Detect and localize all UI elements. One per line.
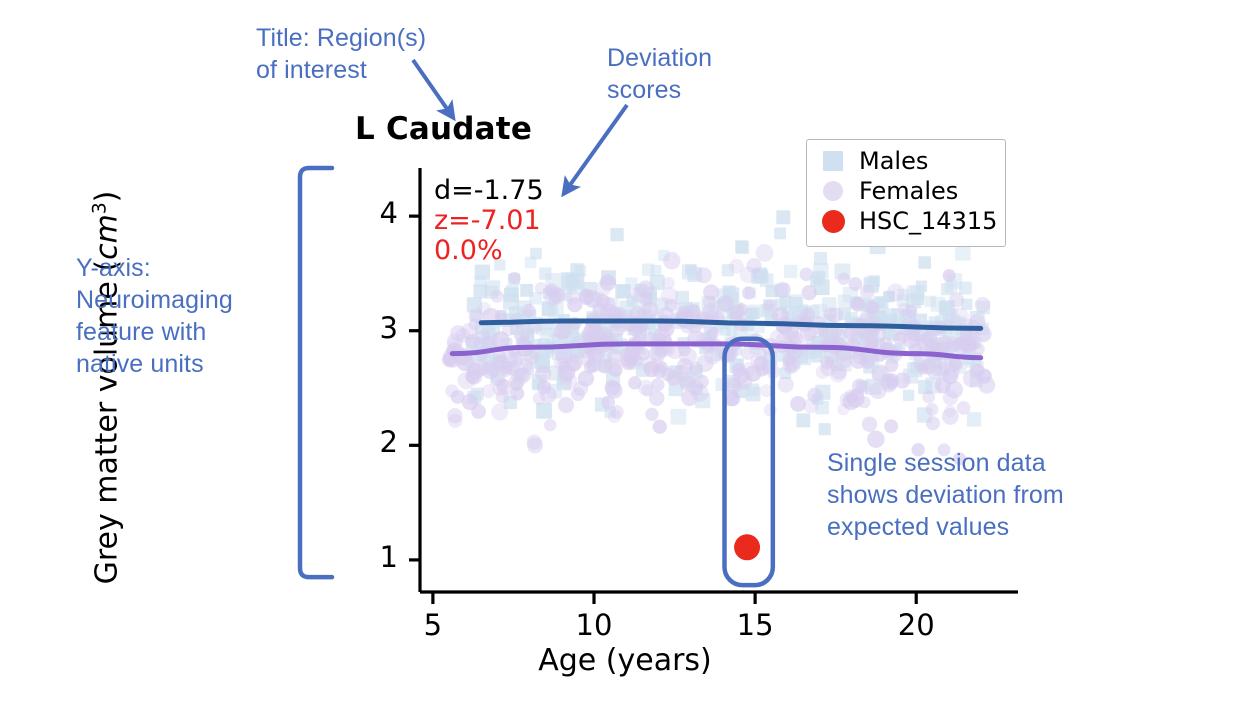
highlight-point-hsc (734, 534, 760, 560)
legend-label-females: Females (859, 177, 958, 205)
legend-item-subject: HSC_14315 (807, 206, 1005, 236)
square-icon (823, 151, 843, 171)
annotation-session-note: Single session data shows deviation from… (827, 447, 1157, 543)
legend-item-males: Males (807, 146, 1005, 176)
y-tick-label: 3 (368, 311, 398, 345)
y-axis-label-suffix: ) (90, 191, 125, 203)
x-tick-label: 5 (403, 608, 463, 642)
x-axis-label: Age (years) (0, 643, 1240, 678)
deviation-percentile-value: 0.0% (434, 235, 503, 266)
annotation-title-note: Title: Region(s) of interest (256, 22, 526, 86)
circle-icon (822, 210, 845, 233)
deviation-d-value: d=-1.75 (434, 175, 544, 206)
x-axis-label-text: Age (years) (538, 643, 712, 678)
legend-marker-cell (807, 210, 859, 233)
legend: Males Females HSC_14315 (806, 139, 1006, 247)
legend-marker-cell (807, 151, 859, 171)
figure-root: L Caudate d=-1.75 z=-7.01 0.0% Age (year… (0, 0, 1240, 710)
y-tick-label: 1 (368, 540, 398, 574)
legend-item-females: Females (807, 176, 1005, 206)
legend-label-subject: HSC_14315 (859, 207, 997, 235)
y-axis-label: Grey matter volume (cm3) (90, 128, 125, 648)
page-title: L Caudate (355, 111, 532, 147)
circle-icon (823, 181, 843, 201)
legend-label-males: Males (859, 147, 928, 175)
x-tick-label: 10 (564, 608, 624, 642)
y-tick-label: 2 (368, 425, 398, 459)
x-tick-label: 15 (725, 608, 785, 642)
x-tick-label: 20 (886, 608, 946, 642)
annotation-yaxis-note: Y-axis: Neuroimaging feature with native… (76, 252, 306, 380)
y-tick-label: 4 (368, 196, 398, 230)
deviation-z-value: z=-7.01 (434, 205, 541, 236)
annotation-deviation-note: Deviation scores (607, 42, 807, 106)
legend-marker-cell (807, 181, 859, 201)
y-axis-label-exponent: 3 (90, 202, 111, 214)
